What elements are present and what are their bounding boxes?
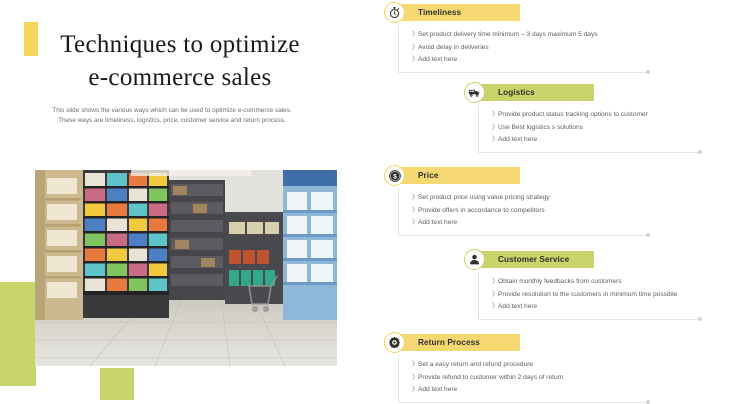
- card-end-dot: [646, 400, 650, 404]
- chevron-right-icon: ❯: [411, 359, 418, 370]
- card-timeliness[interactable]: Timeliness ❯ Set product delivery time m…: [384, 4, 704, 73]
- card-body-price: ❯ Set product price using value pricing …: [398, 188, 704, 235]
- chevron-right-icon: ❯: [491, 134, 498, 145]
- bullet-item: ❯ Add text here: [399, 384, 704, 395]
- bullet-item: ❯ Avoid delay in deliveries: [399, 42, 704, 53]
- stopwatch-icon: [384, 2, 405, 23]
- svg-text:$: $: [393, 173, 397, 180]
- page-title-line-1: Techniques to optimize: [30, 28, 330, 61]
- bullet-item: ❯ Obtain monthly feedbacks from customer…: [479, 276, 750, 287]
- card-return-process[interactable]: Return Process ❯ Set a easy return and r…: [384, 334, 704, 403]
- card-header-price: $ Price: [384, 167, 704, 184]
- bullet-text: Add text here: [418, 54, 457, 65]
- bullet-text: Avoid delay in deliveries: [418, 42, 489, 53]
- bullet-item: ❯ Add text here: [399, 217, 704, 228]
- bullet-text: Provide refund to customer within 2 days…: [418, 372, 564, 383]
- card-header-bar-price: [398, 167, 520, 184]
- bullet-item: ❯ Set a easy return and refund procedure: [399, 359, 704, 370]
- card-underline-return-process: [398, 402, 648, 403]
- card-header-bar-logistics: [478, 84, 594, 101]
- card-price[interactable]: $ Price ❯ Set product price using value …: [384, 167, 704, 236]
- card-underline-timeliness: [398, 72, 648, 73]
- chevron-right-icon: ❯: [491, 301, 498, 312]
- card-end-dot: [698, 317, 702, 321]
- chevron-right-icon: ❯: [411, 217, 418, 228]
- card-header-return-process: Return Process: [384, 334, 704, 351]
- card-customer-service[interactable]: Customer Service ❯ Obtain monthly feedba…: [464, 251, 750, 320]
- chevron-right-icon: ❯: [411, 205, 418, 216]
- card-title-timeliness: Timeliness: [418, 4, 461, 21]
- bullet-item: ❯ Provide refund to customer within 2 da…: [399, 372, 704, 383]
- card-body-return-process: ❯ Set a easy return and refund procedure…: [398, 355, 704, 402]
- chevron-right-icon: ❯: [411, 29, 418, 40]
- card-header-customer-service: Customer Service: [464, 251, 750, 268]
- page-title-line-2: e-commerce sales: [30, 61, 330, 94]
- bullet-item: ❯ Set product delivery time minimum – 3 …: [399, 29, 704, 40]
- card-header-timeliness: Timeliness: [384, 4, 704, 21]
- chevron-right-icon: ❯: [491, 276, 498, 287]
- left-panel: Techniques to optimize e-commerce sales …: [0, 0, 360, 400]
- dollar-coin-icon: $: [384, 165, 405, 186]
- chevron-right-icon: ❯: [411, 384, 418, 395]
- card-title-price: Price: [418, 167, 439, 184]
- bullet-text: Provide product status tracking options …: [498, 109, 648, 120]
- card-body-timeliness: ❯ Set product delivery time minimum – 3 …: [398, 25, 704, 72]
- card-body-logistics: ❯ Provide product status tracking option…: [478, 105, 750, 152]
- card-underline-logistics: [478, 152, 700, 153]
- bullet-item: ❯ Provide offers in accordance to compet…: [399, 205, 704, 216]
- bullet-text: Add text here: [418, 384, 457, 395]
- card-logistics[interactable]: Logistics ❯ Provide product status track…: [464, 84, 750, 153]
- gear-icon: [384, 332, 405, 353]
- card-end-dot: [646, 70, 650, 74]
- person-icon: [464, 249, 485, 270]
- chevron-right-icon: ❯: [491, 109, 498, 120]
- card-title-logistics: Logistics: [498, 84, 535, 101]
- chevron-right-icon: ❯: [491, 289, 498, 300]
- chevron-right-icon: ❯: [411, 192, 418, 203]
- cards-panel: Timeliness ❯ Set product delivery time m…: [360, 0, 750, 400]
- bullet-text: Use Best logistics s solutions: [498, 122, 583, 133]
- page-title: Techniques to optimize e-commerce sales: [30, 28, 330, 94]
- card-title-customer-service: Customer Service: [498, 251, 569, 268]
- bullet-item: ❯ Add text here: [399, 54, 704, 65]
- supermarket-aisle-photo: [35, 170, 337, 366]
- olive-decoration-left: [0, 282, 36, 386]
- bullet-text: Set product delivery time minimum – 3 da…: [418, 29, 598, 40]
- card-underline-price: [398, 235, 648, 236]
- bullet-item: ❯ Set product price using value pricing …: [399, 192, 704, 203]
- bullet-text: Provide resolution to the customers in m…: [498, 289, 677, 300]
- bullet-item: ❯ Add text here: [479, 134, 750, 145]
- olive-decoration-bottom: [100, 368, 134, 400]
- bullet-text: Add text here: [498, 134, 537, 145]
- card-body-customer-service: ❯ Obtain monthly feedbacks from customer…: [478, 272, 750, 319]
- bullet-text: Provide offers in accordance to competit…: [418, 205, 545, 216]
- bullet-item: ❯ Provide product status tracking option…: [479, 109, 750, 120]
- bullet-text: Set a easy return and refund procedure: [418, 359, 533, 370]
- bullet-item: ❯ Provide resolution to the customers in…: [479, 289, 750, 300]
- bullet-item: ❯ Use Best logistics s solutions: [479, 122, 750, 133]
- chevron-right-icon: ❯: [411, 372, 418, 383]
- chevron-right-icon: ❯: [411, 42, 418, 53]
- chevron-right-icon: ❯: [411, 54, 418, 65]
- card-underline-customer-service: [478, 319, 700, 320]
- bullet-text: Add text here: [418, 217, 457, 228]
- page-subtitle: This slide shows the various ways which …: [52, 106, 292, 127]
- bullet-text: Add text here: [498, 301, 537, 312]
- card-header-logistics: Logistics: [464, 84, 750, 101]
- bullet-item: ❯ Add text here: [479, 301, 750, 312]
- card-end-dot: [698, 150, 702, 154]
- chevron-right-icon: ❯: [491, 122, 498, 133]
- bullet-text: Set product price using value pricing st…: [418, 192, 550, 203]
- card-title-return-process: Return Process: [418, 334, 480, 351]
- card-end-dot: [646, 233, 650, 237]
- bullet-text: Obtain monthly feedbacks from customers: [498, 276, 622, 287]
- delivery-truck-icon: [464, 82, 485, 103]
